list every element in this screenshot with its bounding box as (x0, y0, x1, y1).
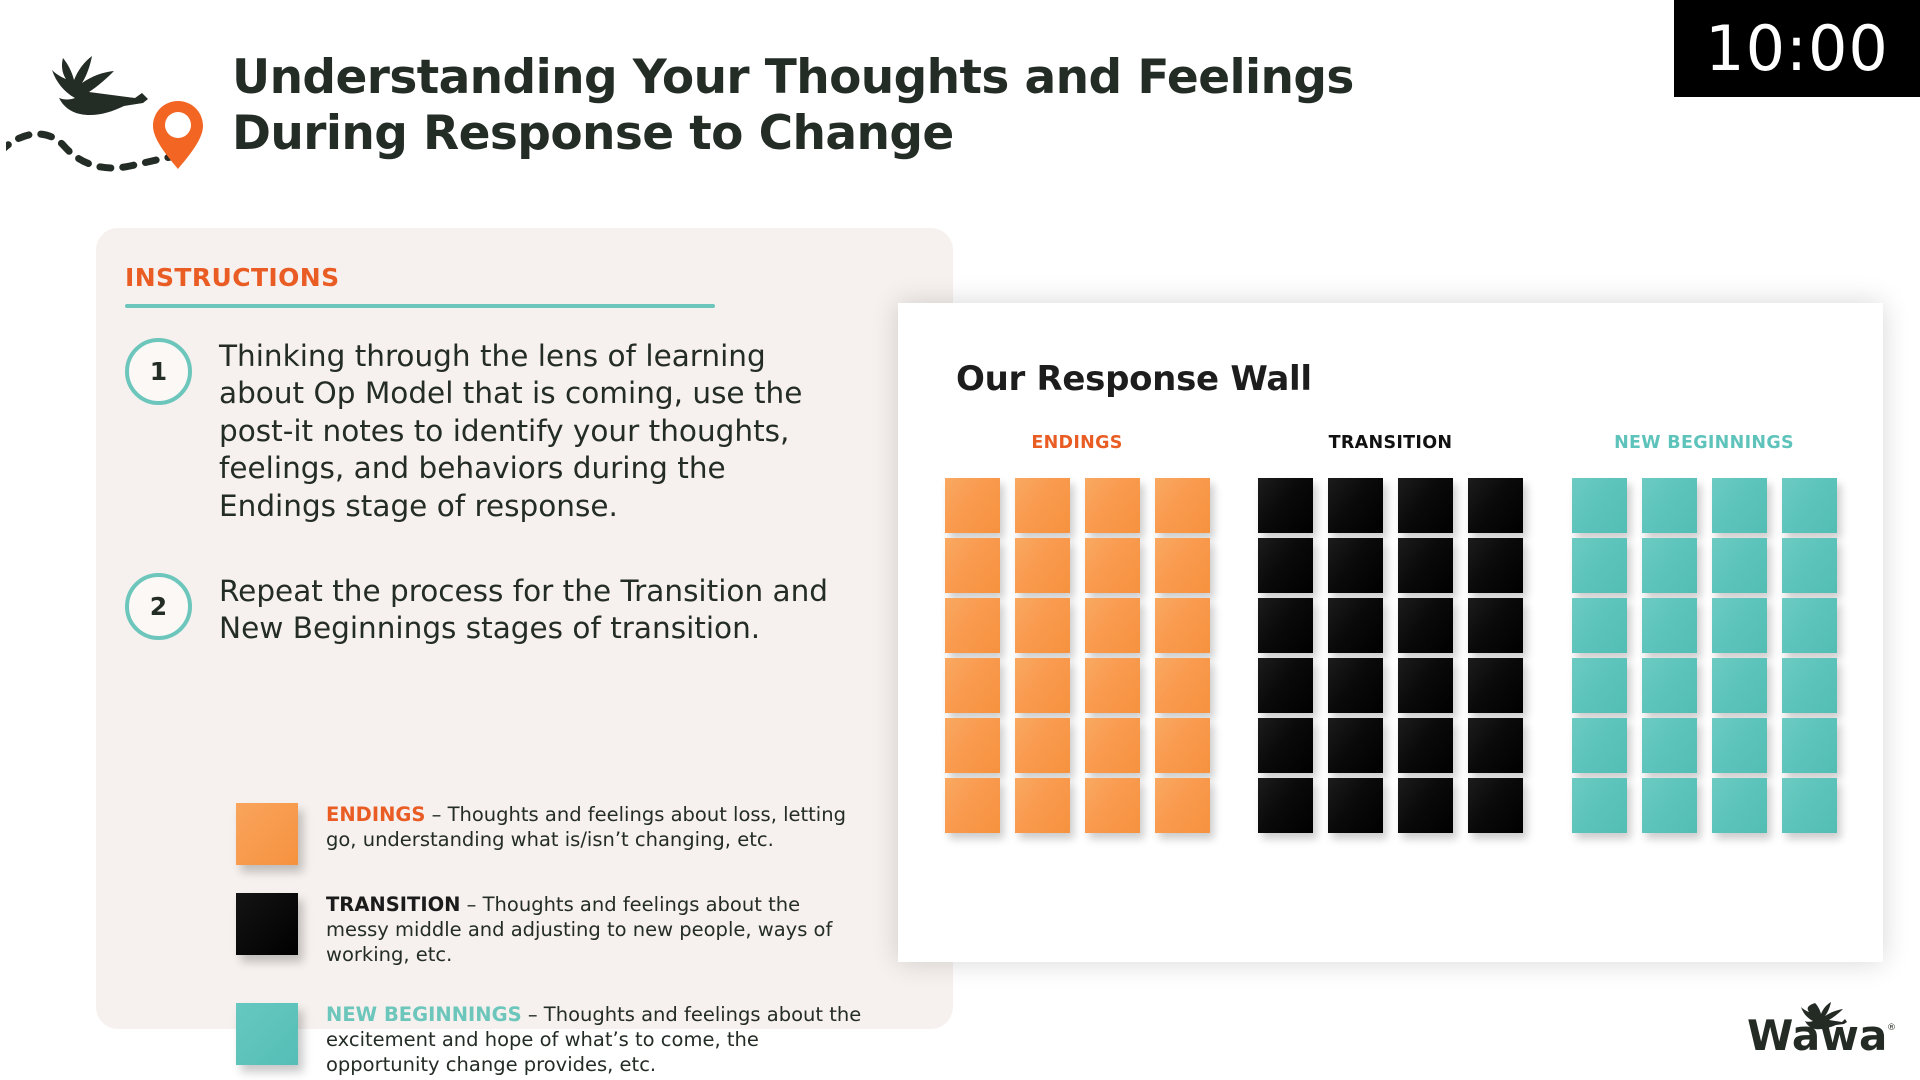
sticky-note[interactable] (1642, 778, 1697, 833)
sticky-note[interactable] (1642, 658, 1697, 713)
dashed-path-icon (6, 134, 176, 168)
step-number-badge: 1 (125, 338, 192, 405)
sticky-note[interactable] (945, 658, 1000, 713)
sticky-note[interactable] (1572, 778, 1627, 833)
step-number-badge: 2 (125, 573, 192, 640)
sticky-note[interactable] (1642, 718, 1697, 773)
instructions-divider (125, 304, 715, 308)
sticky-note[interactable] (1258, 478, 1313, 533)
sticky-note[interactable] (1015, 658, 1070, 713)
note-grid-endings (945, 478, 1210, 833)
sticky-note[interactable] (1712, 718, 1767, 773)
goose-icon (52, 56, 148, 115)
sticky-note[interactable] (1085, 658, 1140, 713)
sticky-note[interactable] (1712, 778, 1767, 833)
sticky-note[interactable] (1572, 598, 1627, 653)
sticky-note[interactable] (1712, 658, 1767, 713)
page-title-line-2: During Response to Change (232, 106, 954, 161)
sticky-note[interactable] (1468, 718, 1523, 773)
sticky-note[interactable] (1782, 538, 1837, 593)
sticky-note[interactable] (945, 718, 1000, 773)
timer-badge[interactable]: 10:00 (1674, 0, 1920, 97)
legend-swatch-endings (236, 803, 298, 865)
wall-column-transition: TRANSITION (1246, 433, 1536, 928)
sticky-note[interactable] (1572, 478, 1627, 533)
sticky-note[interactable] (945, 598, 1000, 653)
sticky-note[interactable] (1085, 478, 1140, 533)
legend-text-endings: ENDINGS – Thoughts and feelings about lo… (326, 803, 866, 853)
sticky-note[interactable] (1328, 538, 1383, 593)
sticky-note[interactable] (1155, 538, 1210, 593)
timer-value: 10:00 (1705, 18, 1889, 80)
sticky-note[interactable] (1258, 538, 1313, 593)
sticky-note[interactable] (1258, 598, 1313, 653)
sticky-note[interactable] (1782, 778, 1837, 833)
sticky-note[interactable] (1468, 778, 1523, 833)
brand-mark (6, 30, 236, 200)
sticky-note[interactable] (1015, 718, 1070, 773)
sticky-note[interactable] (1712, 598, 1767, 653)
wawa-logo: Wawa ® (1745, 1000, 1897, 1056)
sticky-note[interactable] (1015, 778, 1070, 833)
legend-text-new-beginnings: NEW BEGINNINGS – Thoughts and feelings a… (326, 1003, 866, 1078)
sticky-note[interactable] (1468, 658, 1523, 713)
sticky-note[interactable] (1642, 538, 1697, 593)
sticky-note[interactable] (1328, 658, 1383, 713)
note-grid-transition (1258, 478, 1523, 833)
sticky-note[interactable] (1642, 478, 1697, 533)
sticky-note[interactable] (945, 778, 1000, 833)
sticky-note[interactable] (1155, 778, 1210, 833)
sticky-note[interactable] (1712, 478, 1767, 533)
sticky-note[interactable] (1782, 478, 1837, 533)
instruction-step-1: 1 Thinking through the lens of learning … (125, 338, 839, 525)
sticky-note[interactable] (1328, 478, 1383, 533)
response-wall-title: Our Response Wall (956, 359, 1312, 399)
legend-term-new-beginnings: NEW BEGINNINGS (326, 1003, 522, 1026)
sticky-note[interactable] (1085, 778, 1140, 833)
wall-column-new-beginnings: NEW BEGINNINGS (1559, 433, 1849, 928)
sticky-note[interactable] (1328, 778, 1383, 833)
sticky-note[interactable] (1155, 658, 1210, 713)
legend-swatch-new-beginnings (236, 1003, 298, 1065)
wawa-wordmark: Wawa (1747, 1011, 1887, 1056)
sticky-note[interactable] (1155, 478, 1210, 533)
sticky-note[interactable] (1085, 718, 1140, 773)
legend-swatch-transition (236, 893, 298, 955)
sticky-note[interactable] (1782, 598, 1837, 653)
registered-mark: ® (1887, 1023, 1896, 1033)
legend-item-endings: ENDINGS – Thoughts and feelings about lo… (236, 803, 866, 865)
sticky-note[interactable] (1468, 538, 1523, 593)
instruction-step-2: 2 Repeat the process for the Transition … (125, 573, 839, 648)
sticky-note[interactable] (1398, 478, 1453, 533)
sticky-note[interactable] (1468, 478, 1523, 533)
column-header-new-beginnings: NEW BEGINNINGS (1614, 433, 1794, 453)
sticky-note[interactable] (1328, 718, 1383, 773)
sticky-note[interactable] (1398, 598, 1453, 653)
instructions-panel: INSTRUCTIONS 1 Thinking through the lens… (96, 228, 953, 1029)
sticky-note[interactable] (1398, 778, 1453, 833)
sticky-note[interactable] (1398, 658, 1453, 713)
sticky-note[interactable] (1015, 478, 1070, 533)
sticky-note[interactable] (1642, 598, 1697, 653)
sticky-note[interactable] (1085, 598, 1140, 653)
sticky-note[interactable] (1572, 658, 1627, 713)
instructions-heading: INSTRUCTIONS (125, 263, 340, 292)
step-text: Repeat the process for the Transition an… (219, 573, 839, 648)
sticky-note[interactable] (1712, 538, 1767, 593)
legend-item-new-beginnings: NEW BEGINNINGS – Thoughts and feelings a… (236, 1003, 866, 1078)
sticky-note[interactable] (1782, 658, 1837, 713)
legend-term-endings: ENDINGS (326, 803, 425, 826)
page-title-line-1: Understanding Your Thoughts and Feelings (232, 50, 1354, 105)
sticky-note[interactable] (1258, 658, 1313, 713)
note-grid-new-beginnings (1572, 478, 1837, 833)
sticky-note[interactable] (1258, 778, 1313, 833)
sticky-note[interactable] (1782, 718, 1837, 773)
step-text: Thinking through the lens of learning ab… (219, 338, 839, 525)
response-wall-card: Our Response Wall ENDINGS TRANSITION NEW… (898, 303, 1883, 962)
sticky-note[interactable] (1155, 718, 1210, 773)
sticky-note[interactable] (1015, 538, 1070, 593)
location-pin-icon (153, 101, 203, 169)
legend-text-transition: TRANSITION – Thoughts and feelings about… (326, 893, 866, 968)
sticky-note[interactable] (945, 538, 1000, 593)
wall-column-endings: ENDINGS (932, 433, 1222, 928)
sticky-note[interactable] (1258, 718, 1313, 773)
sticky-note[interactable] (1572, 538, 1627, 593)
page-title: Understanding Your Thoughts and Feelings… (232, 50, 1632, 162)
sticky-note[interactable] (1015, 598, 1070, 653)
sticky-note[interactable] (1155, 598, 1210, 653)
sticky-note[interactable] (1328, 598, 1383, 653)
sticky-note[interactable] (1468, 598, 1523, 653)
column-header-endings: ENDINGS (1031, 433, 1122, 453)
response-wall-columns: ENDINGS TRANSITION NEW BEGINNINGS (932, 433, 1849, 928)
legend-item-transition: TRANSITION – Thoughts and feelings about… (236, 893, 866, 968)
sticky-note[interactable] (945, 478, 1000, 533)
legend-term-transition: TRANSITION (326, 893, 460, 916)
sticky-note[interactable] (1572, 718, 1627, 773)
sticky-note[interactable] (1398, 538, 1453, 593)
sticky-note[interactable] (1398, 718, 1453, 773)
column-header-transition: TRANSITION (1329, 433, 1453, 453)
sticky-note[interactable] (1085, 538, 1140, 593)
